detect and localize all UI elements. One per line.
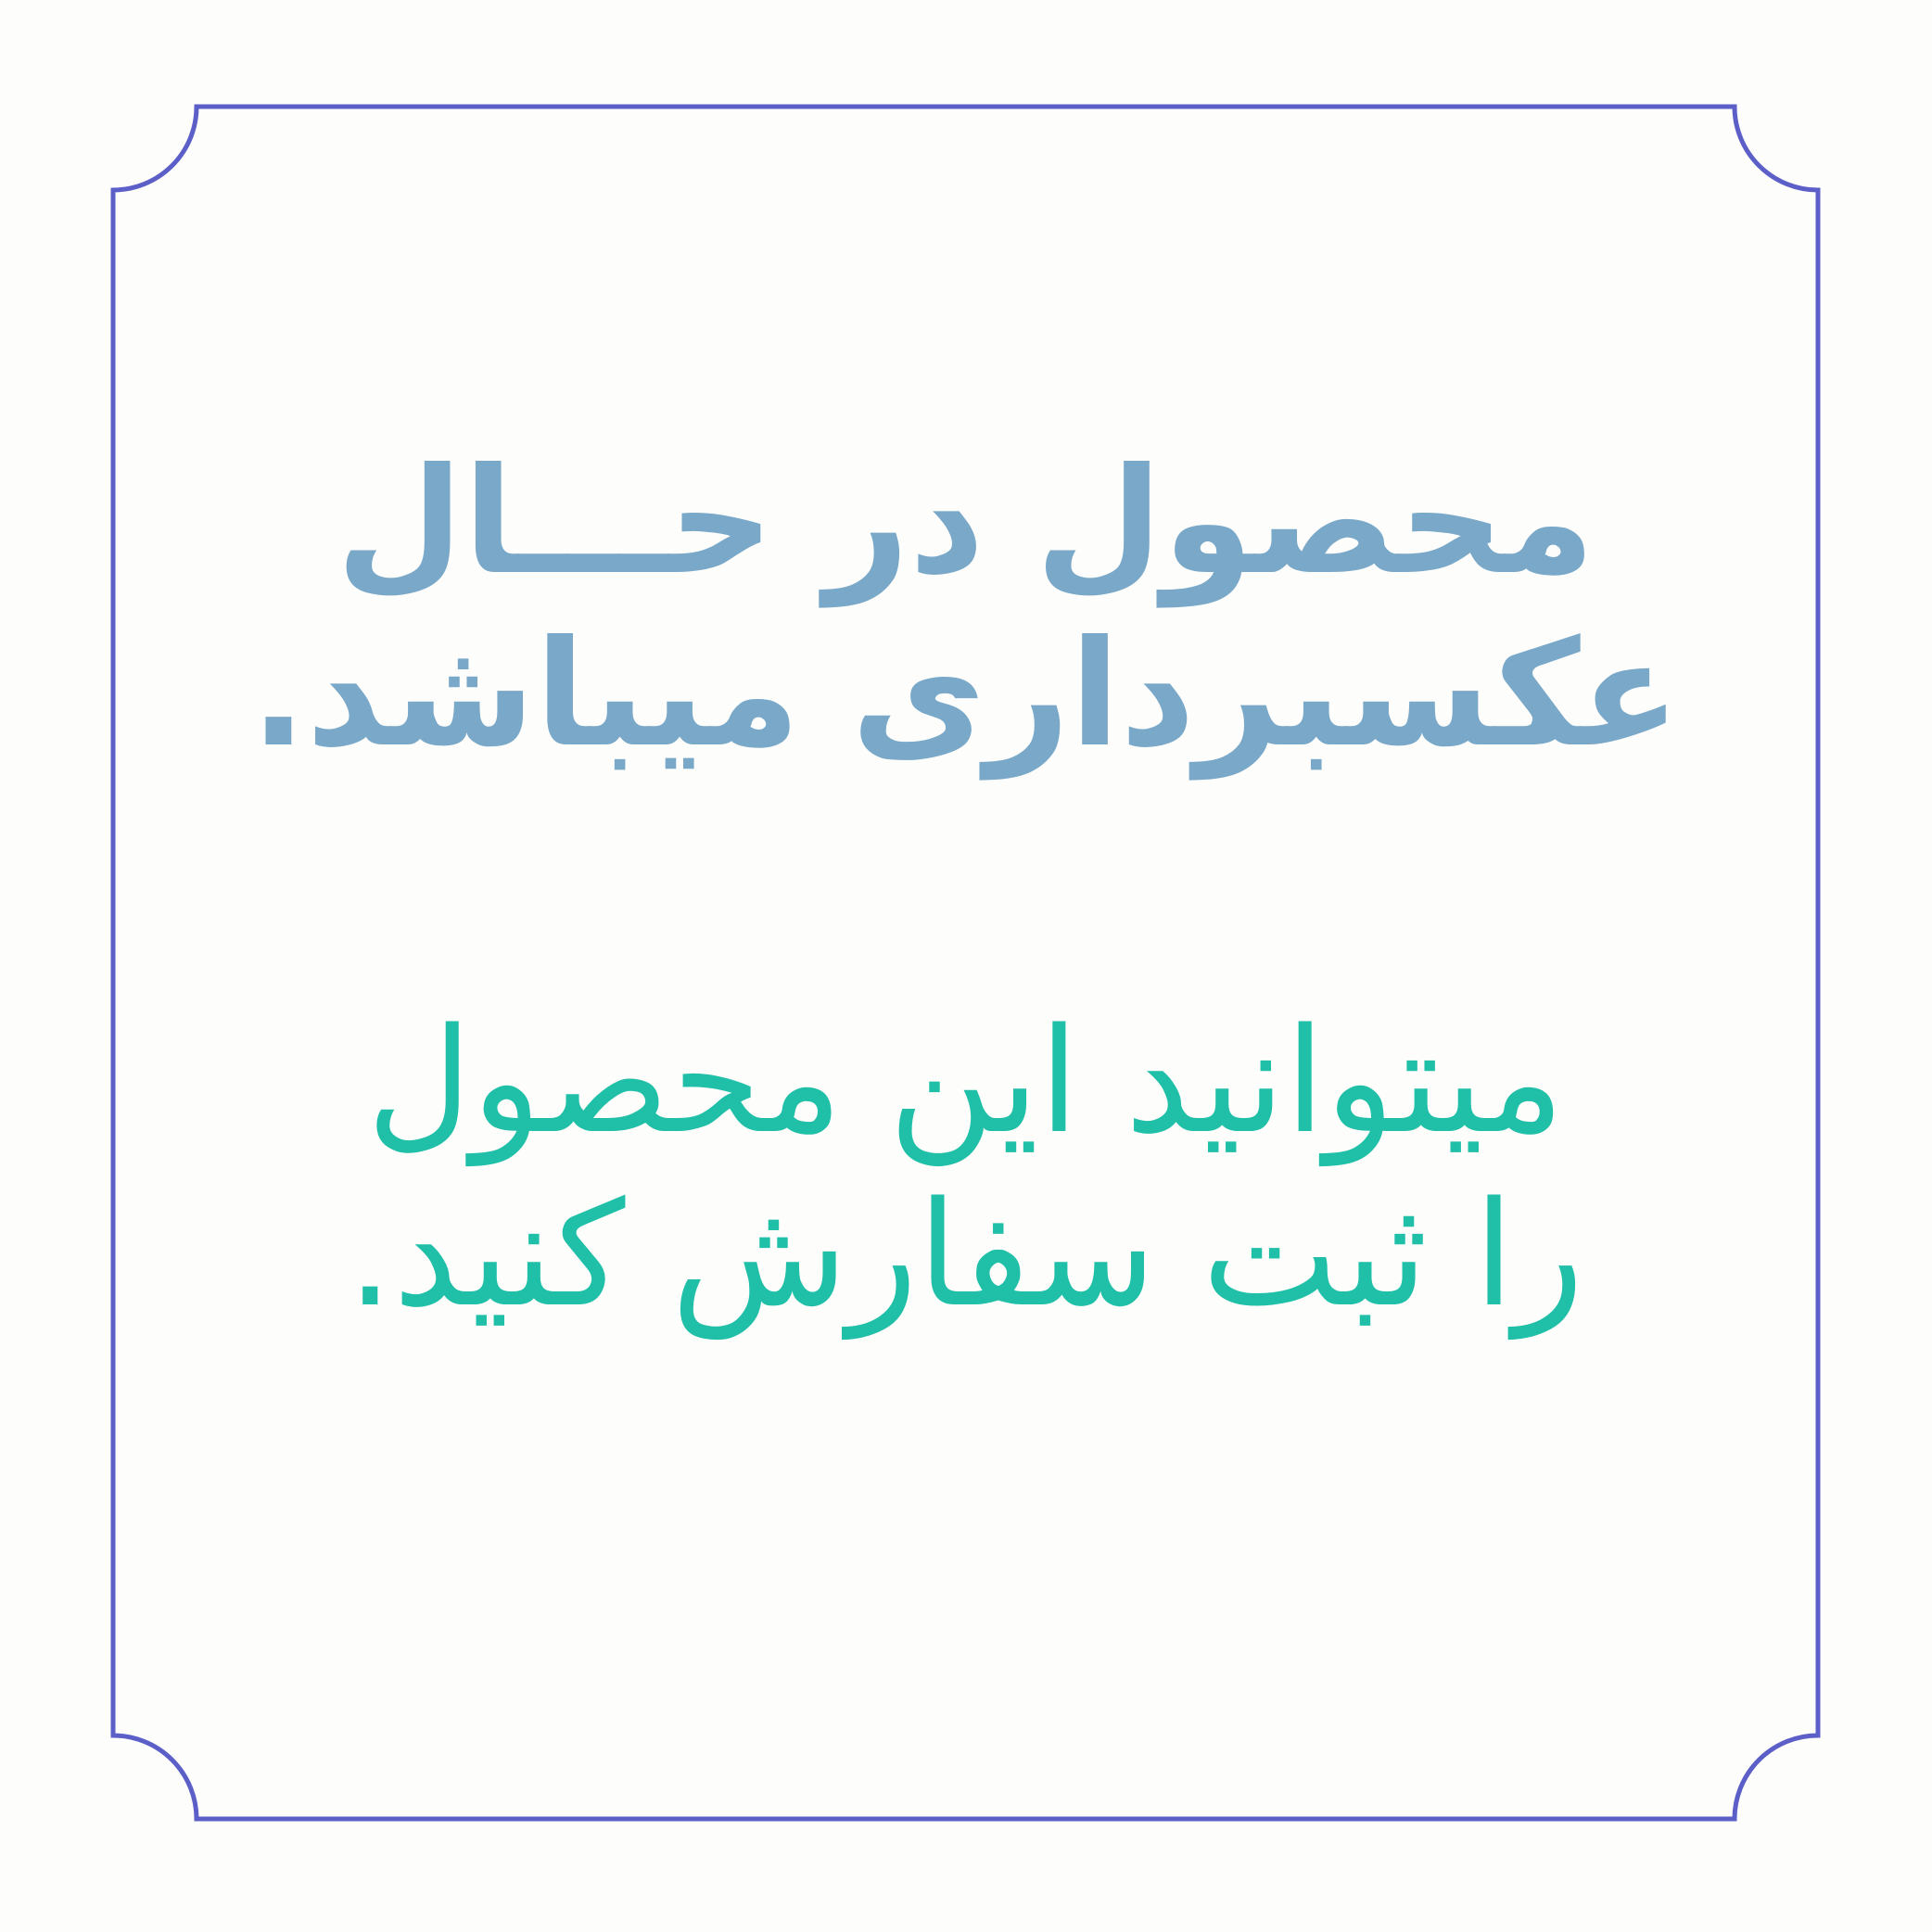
subtext-line-1: میتوانید این محصول bbox=[234, 995, 1697, 1168]
card-content: محصول در حـــال عکسبرداری میباشد. میتوان… bbox=[113, 107, 1818, 1819]
headline-line-2: عکسبرداری میباشد. bbox=[234, 608, 1697, 781]
subtext-line-2: را ثبت سفارش کنید. bbox=[234, 1168, 1697, 1341]
placeholder-card: محصول در حـــال عکسبرداری میباشد. میتوان… bbox=[0, 0, 1932, 1932]
headline-line-1: محصول در حـــال bbox=[234, 436, 1697, 608]
subtext-block: میتوانید این محصول را ثبت سفارش کنید. bbox=[234, 995, 1697, 1341]
headline-block: محصول در حـــال عکسبرداری میباشد. bbox=[234, 436, 1697, 782]
